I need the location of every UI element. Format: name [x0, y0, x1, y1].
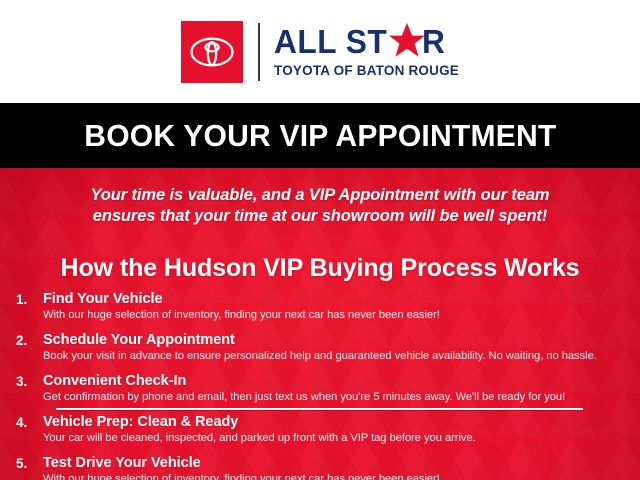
step-number: 2.	[16, 331, 43, 349]
step-content: Vehicle Prep: Clean & Ready Your car wil…	[43, 413, 630, 445]
headline-banner: BOOK YOUR VIP APPOINTMENT	[0, 103, 640, 168]
step-number: 5.	[16, 454, 43, 472]
list-item: 5. Test Drive Your Vehicle With our huge…	[0, 454, 640, 480]
step-number: 4.	[16, 413, 43, 431]
step-number: 1.	[16, 290, 43, 308]
tagline: Your time is valuable, and a VIP Appoint…	[0, 185, 640, 227]
list-item: 1. Find Your Vehicle With our huge selec…	[0, 290, 640, 322]
step-content: Test Drive Your Vehicle With our huge se…	[43, 454, 630, 480]
step-title: Convenient Check-In	[43, 372, 630, 390]
list-item: 4. Vehicle Prep: Clean & Ready Your car …	[0, 413, 640, 445]
toyota-emblem-icon	[190, 37, 234, 67]
process-steps-list: 1. Find Your Vehicle With our huge selec…	[0, 290, 640, 480]
logo-lockup: ALL ST R TOYOTA OF BATON ROUGE	[181, 21, 459, 83]
step-title: Schedule Your Appointment	[43, 331, 630, 349]
step-title: Test Drive Your Vehicle	[43, 454, 630, 472]
list-item: 3. Convenient Check-In Get confirmation …	[0, 372, 640, 404]
step-description: Get confirmation by phone and email, the…	[43, 390, 630, 404]
step-content: Schedule Your Appointment Book your visi…	[43, 331, 630, 363]
step-title: Find Your Vehicle	[43, 290, 630, 308]
step-description: Book your visit in advance to ensure per…	[43, 349, 630, 363]
promo-graphic: ALL ST R TOYOTA OF BATON ROUGE BOOK YOUR…	[0, 0, 640, 480]
list-item: 2. Schedule Your Appointment Book your v…	[0, 331, 640, 363]
allstar-wordmark: ALL ST R TOYOTA OF BATON ROUGE	[274, 21, 459, 83]
allstar-text-primary: ALL ST	[274, 25, 387, 59]
headline-text: BOOK YOUR VIP APPOINTMENT	[84, 119, 556, 153]
tagline-line-1: Your time is valuable, and a VIP Appoint…	[0, 185, 640, 206]
step-description: With our huge selection of inventory, fi…	[43, 308, 630, 322]
allstar-wordmark-line: ALL ST R	[274, 24, 459, 60]
content-panel: Your time is valuable, and a VIP Appoint…	[0, 168, 640, 480]
step-description: Your car will be cleaned, inspected, and…	[43, 431, 630, 445]
step-content: Find Your Vehicle With our huge selectio…	[43, 290, 630, 322]
red-star-icon	[392, 25, 422, 59]
logo-header: ALL ST R TOYOTA OF BATON ROUGE	[0, 0, 640, 103]
allstar-text-secondary: R	[422, 25, 445, 59]
step-number: 3.	[16, 372, 43, 390]
step-title: Vehicle Prep: Clean & Ready	[43, 413, 630, 431]
allstar-subtitle: TOYOTA OF BATON ROUGE	[274, 62, 459, 79]
logo-divider	[258, 23, 260, 81]
step-description: With our huge selection of inventory, fi…	[43, 472, 630, 480]
step-content: Convenient Check-In Get confirmation by …	[43, 372, 630, 404]
tagline-line-2: ensures that your time at our showroom w…	[0, 206, 640, 227]
toyota-badge	[181, 21, 243, 83]
section-title: How the Hudson VIP Buying Process Works	[0, 253, 640, 283]
